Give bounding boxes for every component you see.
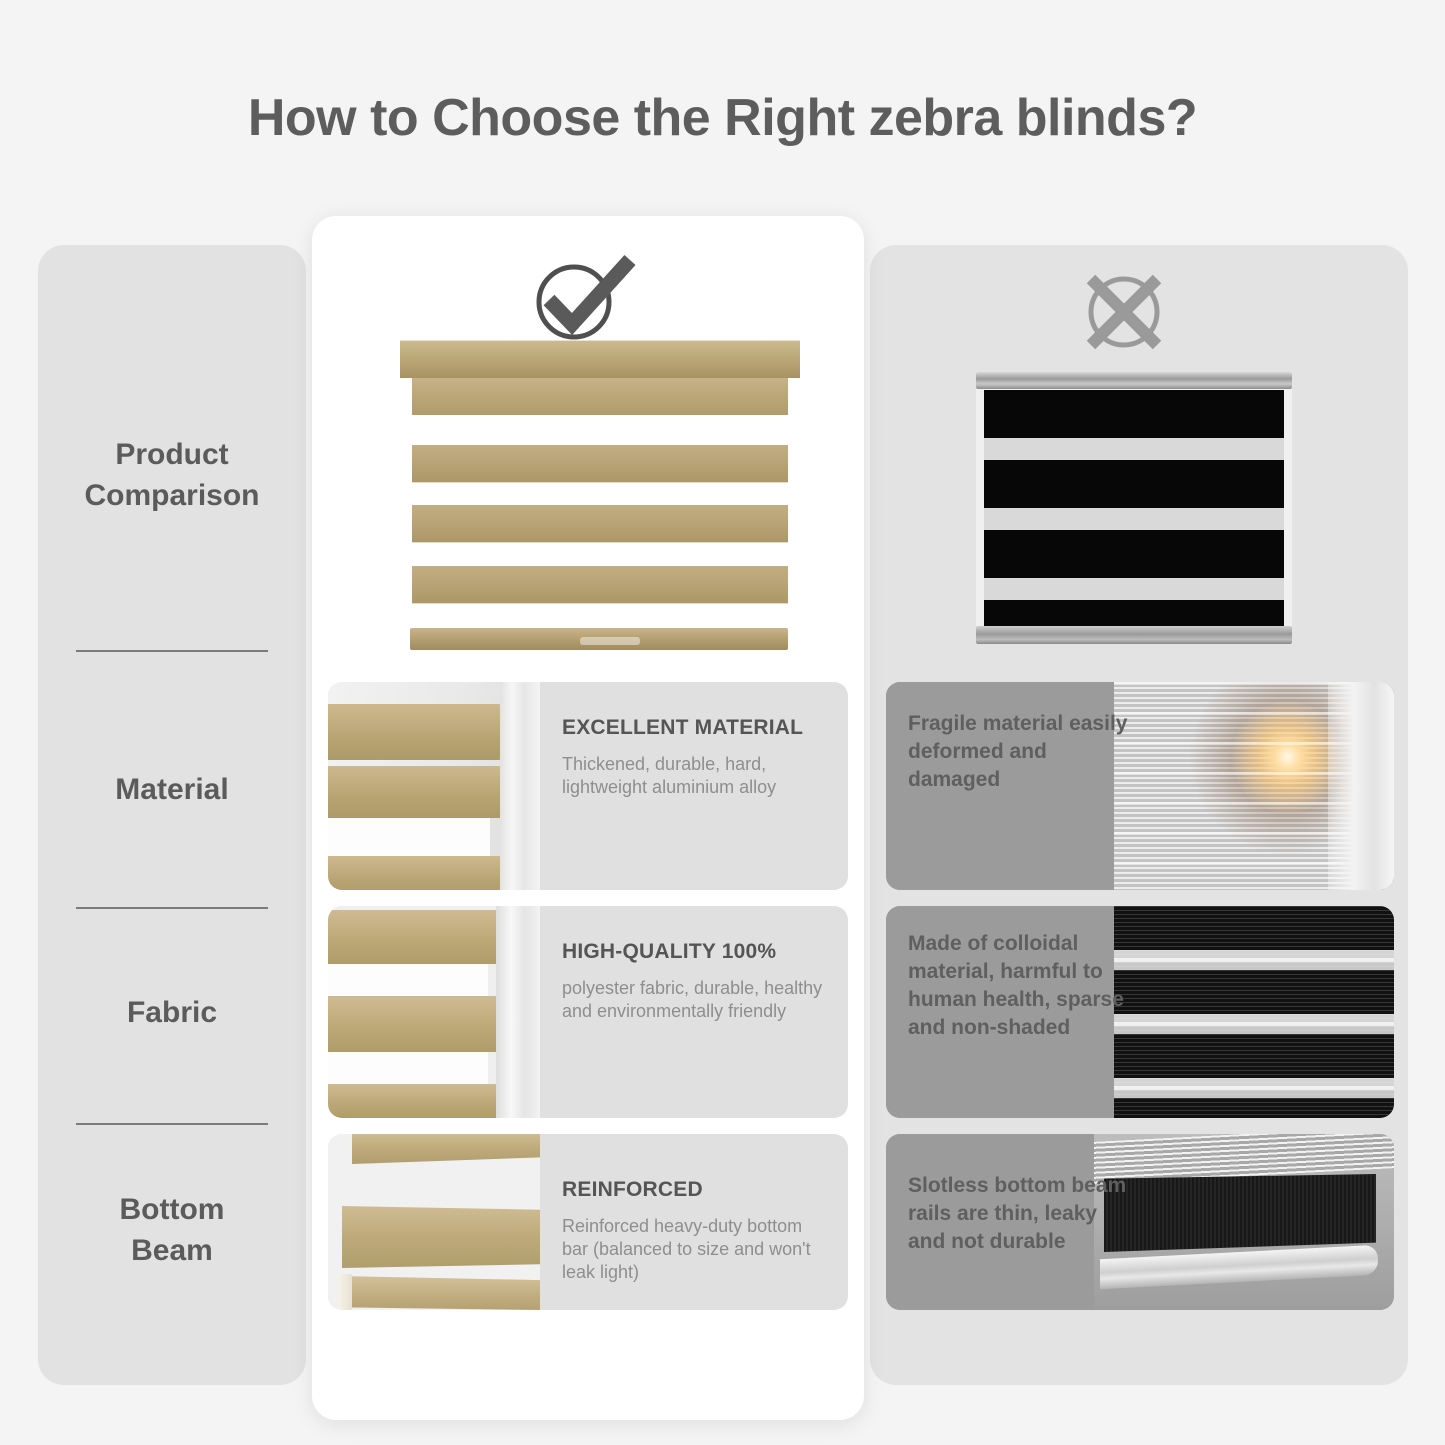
bad-row-fabric: Made of colloidal material, harmful to h… (886, 906, 1394, 1118)
beige-blind-fabric-closeup-image (328, 906, 540, 1118)
sparse-black-zebra-fabric-image (1114, 906, 1394, 1118)
category-sidebar: Product Comparison Material Fabric Botto… (38, 245, 306, 1385)
good-row-fabric-title: HIGH-QUALITY 100% (562, 940, 830, 964)
good-fabric-band (412, 505, 788, 543)
good-row-bottom-beam-title: REINFORCED (562, 1178, 830, 1202)
sidebar-divider-2 (76, 907, 268, 909)
sidebar-label-line-3: Bottom (120, 1193, 225, 1226)
good-row-bottom-beam-text: REINFORCED Reinforced heavy-duty bottom … (540, 1134, 848, 1310)
good-hero-blind-image (400, 340, 800, 670)
check-circle-icon (527, 252, 637, 344)
cross-circle-icon (1080, 268, 1168, 356)
good-row-fabric: HIGH-QUALITY 100% polyester fabric, dura… (328, 906, 848, 1118)
bad-hero-blind-image (976, 372, 1292, 644)
beige-reinforced-bottom-bar-image (328, 1134, 540, 1310)
bad-bottom-rail (976, 626, 1292, 644)
bad-row-material: Fragile material easily deformed and dam… (886, 682, 1394, 890)
good-row-material-text: EXCELLENT MATERIAL Thickened, durable, h… (540, 682, 848, 890)
bad-fabric-body (984, 390, 1284, 626)
sidebar-label-line-2: Comparison (84, 479, 259, 512)
page-title: How to Choose the Right zebra blinds? (0, 88, 1445, 148)
good-row-material: EXCELLENT MATERIAL Thickened, durable, h… (328, 682, 848, 890)
sun-leaking-through-blind-image (1114, 682, 1394, 890)
sidebar-item-product-comparison: Product Comparison (38, 435, 306, 516)
good-row-fabric-desc: polyester fabric, durable, healthy and e… (562, 977, 824, 1023)
good-row-bottom-beam-desc: Reinforced heavy-duty bottom bar (balanc… (562, 1215, 824, 1284)
good-row-material-title: EXCELLENT MATERIAL (562, 716, 830, 740)
sidebar-divider-3 (76, 1123, 268, 1125)
beige-blind-in-white-window-frame-image (328, 682, 540, 890)
sidebar-label-line-1: Product (115, 438, 228, 471)
sidebar-item-bottom-beam: Bottom Beam (38, 1190, 306, 1271)
sidebar-item-fabric: Fabric (38, 993, 306, 1034)
sidebar-divider-1 (76, 650, 268, 652)
bad-row-material-text: Fragile material easily deformed and dam… (886, 682, 1136, 794)
bad-row-fabric-text: Made of colloidal material, harmful to h… (886, 906, 1136, 1042)
thin-aluminium-bottom-rail-image (1094, 1134, 1394, 1310)
good-bottom-rail (410, 628, 788, 650)
bad-row-bottom-beam: Slotless bottom beam rails are thin, lea… (886, 1134, 1394, 1310)
bad-headrail (976, 372, 1292, 389)
bad-row-bottom-beam-text: Slotless bottom beam rails are thin, lea… (886, 1134, 1136, 1256)
good-row-bottom-beam: REINFORCED Reinforced heavy-duty bottom … (328, 1134, 848, 1310)
good-row-material-desc: Thickened, durable, hard, lightweight al… (562, 753, 824, 799)
infographic-root: How to Choose the Right zebra blinds? Pr… (0, 0, 1445, 1445)
good-row-fabric-text: HIGH-QUALITY 100% polyester fabric, dura… (540, 906, 848, 1118)
sidebar-label-line-4: Beam (131, 1234, 213, 1267)
good-fabric-band (412, 566, 788, 604)
sidebar-item-material: Material (38, 770, 306, 811)
good-headrail (400, 340, 800, 378)
good-fabric-band (412, 445, 788, 483)
